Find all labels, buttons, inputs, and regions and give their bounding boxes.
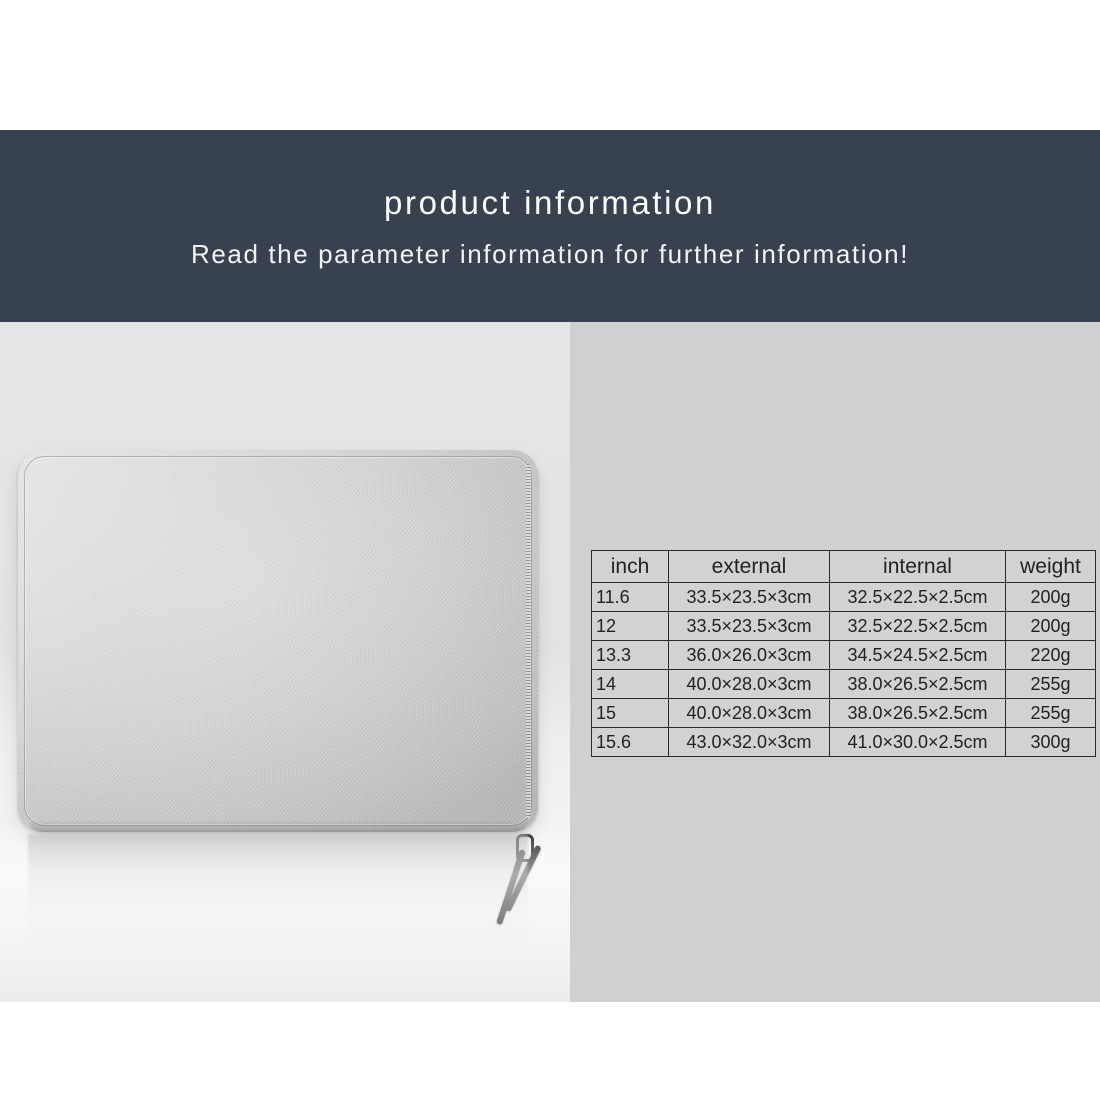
cell-internal: 34.5×24.5×2.5cm — [830, 641, 1006, 670]
table-row: 12 33.5×23.5×3cm 32.5×22.5×2.5cm 200g — [592, 612, 1096, 641]
cell-weight: 255g — [1006, 699, 1096, 728]
cell-internal: 38.0×26.5×2.5cm — [830, 670, 1006, 699]
photo-backdrop — [0, 322, 570, 1002]
cell-external: 40.0×28.0×3cm — [669, 699, 830, 728]
column-header-inch: inch — [592, 551, 669, 583]
cell-internal: 32.5×22.5×2.5cm — [830, 583, 1006, 612]
zipper-track-icon — [526, 464, 531, 818]
table-row: 14 40.0×28.0×3cm 38.0×26.5×2.5cm 255g — [592, 670, 1096, 699]
column-header-external: external — [669, 551, 830, 583]
cell-weight: 220g — [1006, 641, 1096, 670]
product-edge-piping — [24, 456, 532, 826]
cell-weight: 200g — [1006, 583, 1096, 612]
cell-weight: 300g — [1006, 728, 1096, 757]
table-header-row: inch external internal weight — [592, 551, 1096, 583]
cell-internal: 41.0×30.0×2.5cm — [830, 728, 1006, 757]
cell-inch: 15.6 — [592, 728, 669, 757]
bottom-whitespace — [0, 1002, 1100, 1100]
content-area: inch external internal weight 11.6 33.5×… — [0, 322, 1100, 1002]
product-photo-panel — [0, 322, 570, 1002]
cell-external: 40.0×28.0×3cm — [669, 670, 830, 699]
cell-inch: 11.6 — [592, 583, 669, 612]
top-whitespace — [0, 0, 1100, 130]
column-header-weight: weight — [1006, 551, 1096, 583]
product-reflection — [28, 834, 528, 964]
table-row: 11.6 33.5×23.5×3cm 32.5×22.5×2.5cm 200g — [592, 583, 1096, 612]
cell-weight: 200g — [1006, 612, 1096, 641]
table-row: 13.3 36.0×26.0×3cm 34.5×24.5×2.5cm 220g — [592, 641, 1096, 670]
page-subtitle: Read the parameter information for furth… — [191, 241, 909, 267]
table-body: 11.6 33.5×23.5×3cm 32.5×22.5×2.5cm 200g … — [592, 583, 1096, 757]
product-information-page: product information Read the parameter i… — [0, 0, 1100, 1100]
column-header-internal: internal — [830, 551, 1006, 583]
cell-inch: 14 — [592, 670, 669, 699]
table-row: 15 40.0×28.0×3cm 38.0×26.5×2.5cm 255g — [592, 699, 1096, 728]
cell-external: 33.5×23.5×3cm — [669, 583, 830, 612]
table-row: 15.6 43.0×32.0×3cm 41.0×30.0×2.5cm 300g — [592, 728, 1096, 757]
cell-external: 36.0×26.0×3cm — [669, 641, 830, 670]
specification-table: inch external internal weight 11.6 33.5×… — [591, 550, 1096, 757]
cell-external: 43.0×32.0×3cm — [669, 728, 830, 757]
cell-external: 33.5×23.5×3cm — [669, 612, 830, 641]
spec-table-panel: inch external internal weight 11.6 33.5×… — [570, 322, 1100, 1002]
cell-internal: 32.5×22.5×2.5cm — [830, 612, 1006, 641]
laptop-sleeve-product — [18, 450, 538, 832]
cell-weight: 255g — [1006, 670, 1096, 699]
cell-internal: 38.0×26.5×2.5cm — [830, 699, 1006, 728]
cell-inch: 12 — [592, 612, 669, 641]
page-title: product information — [384, 186, 716, 219]
cell-inch: 15 — [592, 699, 669, 728]
banner: product information Read the parameter i… — [0, 130, 1100, 322]
cell-inch: 13.3 — [592, 641, 669, 670]
